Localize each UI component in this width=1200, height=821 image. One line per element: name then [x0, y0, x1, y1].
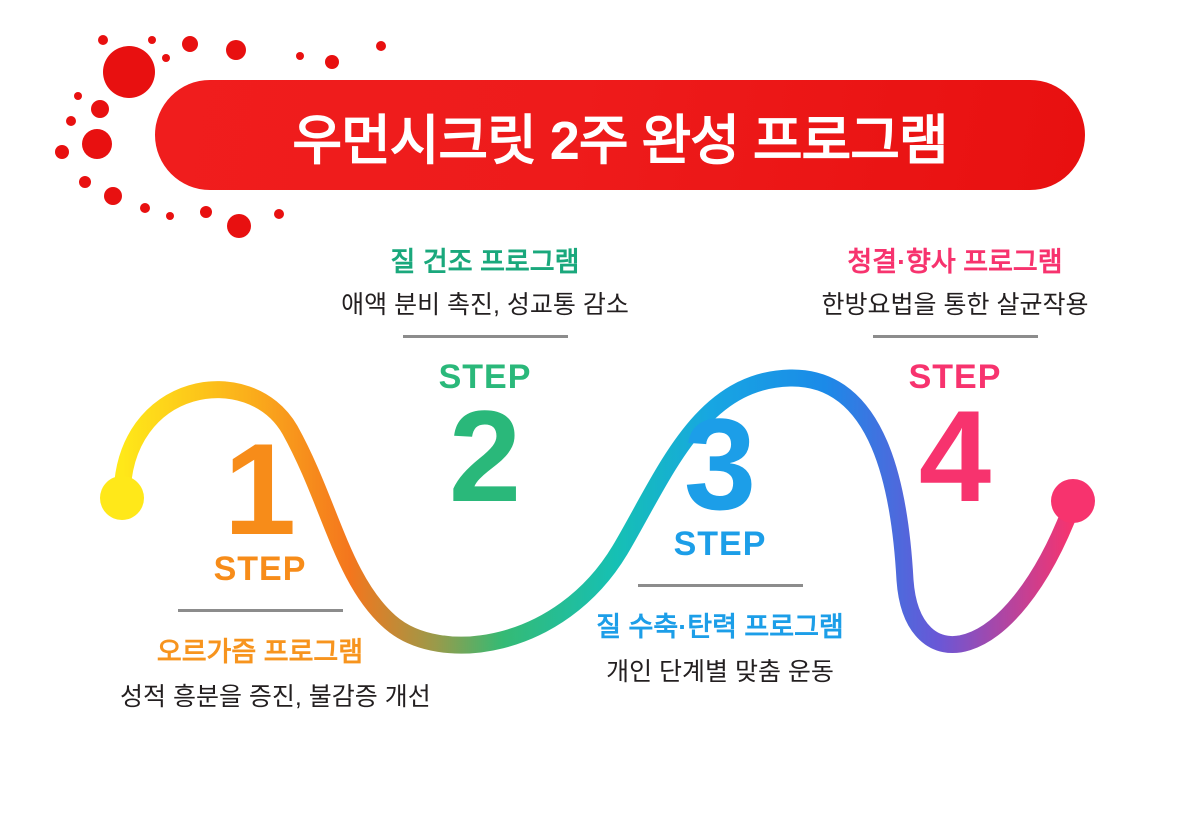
step-program-title-3: 질 수축·탄력 프로그램 [570, 605, 870, 644]
step-program-title-2: 질 건조 프로그램 [340, 240, 630, 279]
step-program-title-1: 오르가즘 프로그램 [120, 630, 400, 669]
step-divider-3 [638, 584, 803, 587]
step-program-title-4: 청결·향사 프로그램 [805, 240, 1105, 279]
step-divider-1 [178, 609, 343, 612]
step-program-desc-1: 성적 흥분을 증진, 불감증 개선 [120, 677, 400, 713]
step-block-4: 청결·향사 프로그램 한방요법을 통한 살균작용 STEP 4 [805, 240, 1105, 517]
step-label-1: STEP [120, 550, 400, 589]
title-area: 우먼시크릿 2주 완성 프로그램 [0, 0, 1200, 250]
page-title: 우먼시크릿 2주 완성 프로그램 [292, 96, 947, 175]
steps-diagram: 1 STEP 오르가즘 프로그램 성적 흥분을 증진, 불감증 개선 질 건조 … [0, 250, 1200, 821]
step-divider-2 [403, 335, 568, 338]
step-divider-4 [873, 335, 1038, 338]
step-label-3: STEP [570, 525, 870, 564]
step-program-desc-2: 애액 분비 촉진, 성교통 감소 [340, 285, 630, 321]
step-program-desc-3: 개인 단계별 맞춤 운동 [570, 652, 870, 688]
step-number-4: 4 [805, 397, 1105, 517]
step-program-desc-4: 한방요법을 통한 살균작용 [805, 285, 1105, 321]
title-banner: 우먼시크릿 2주 완성 프로그램 [155, 80, 1085, 190]
